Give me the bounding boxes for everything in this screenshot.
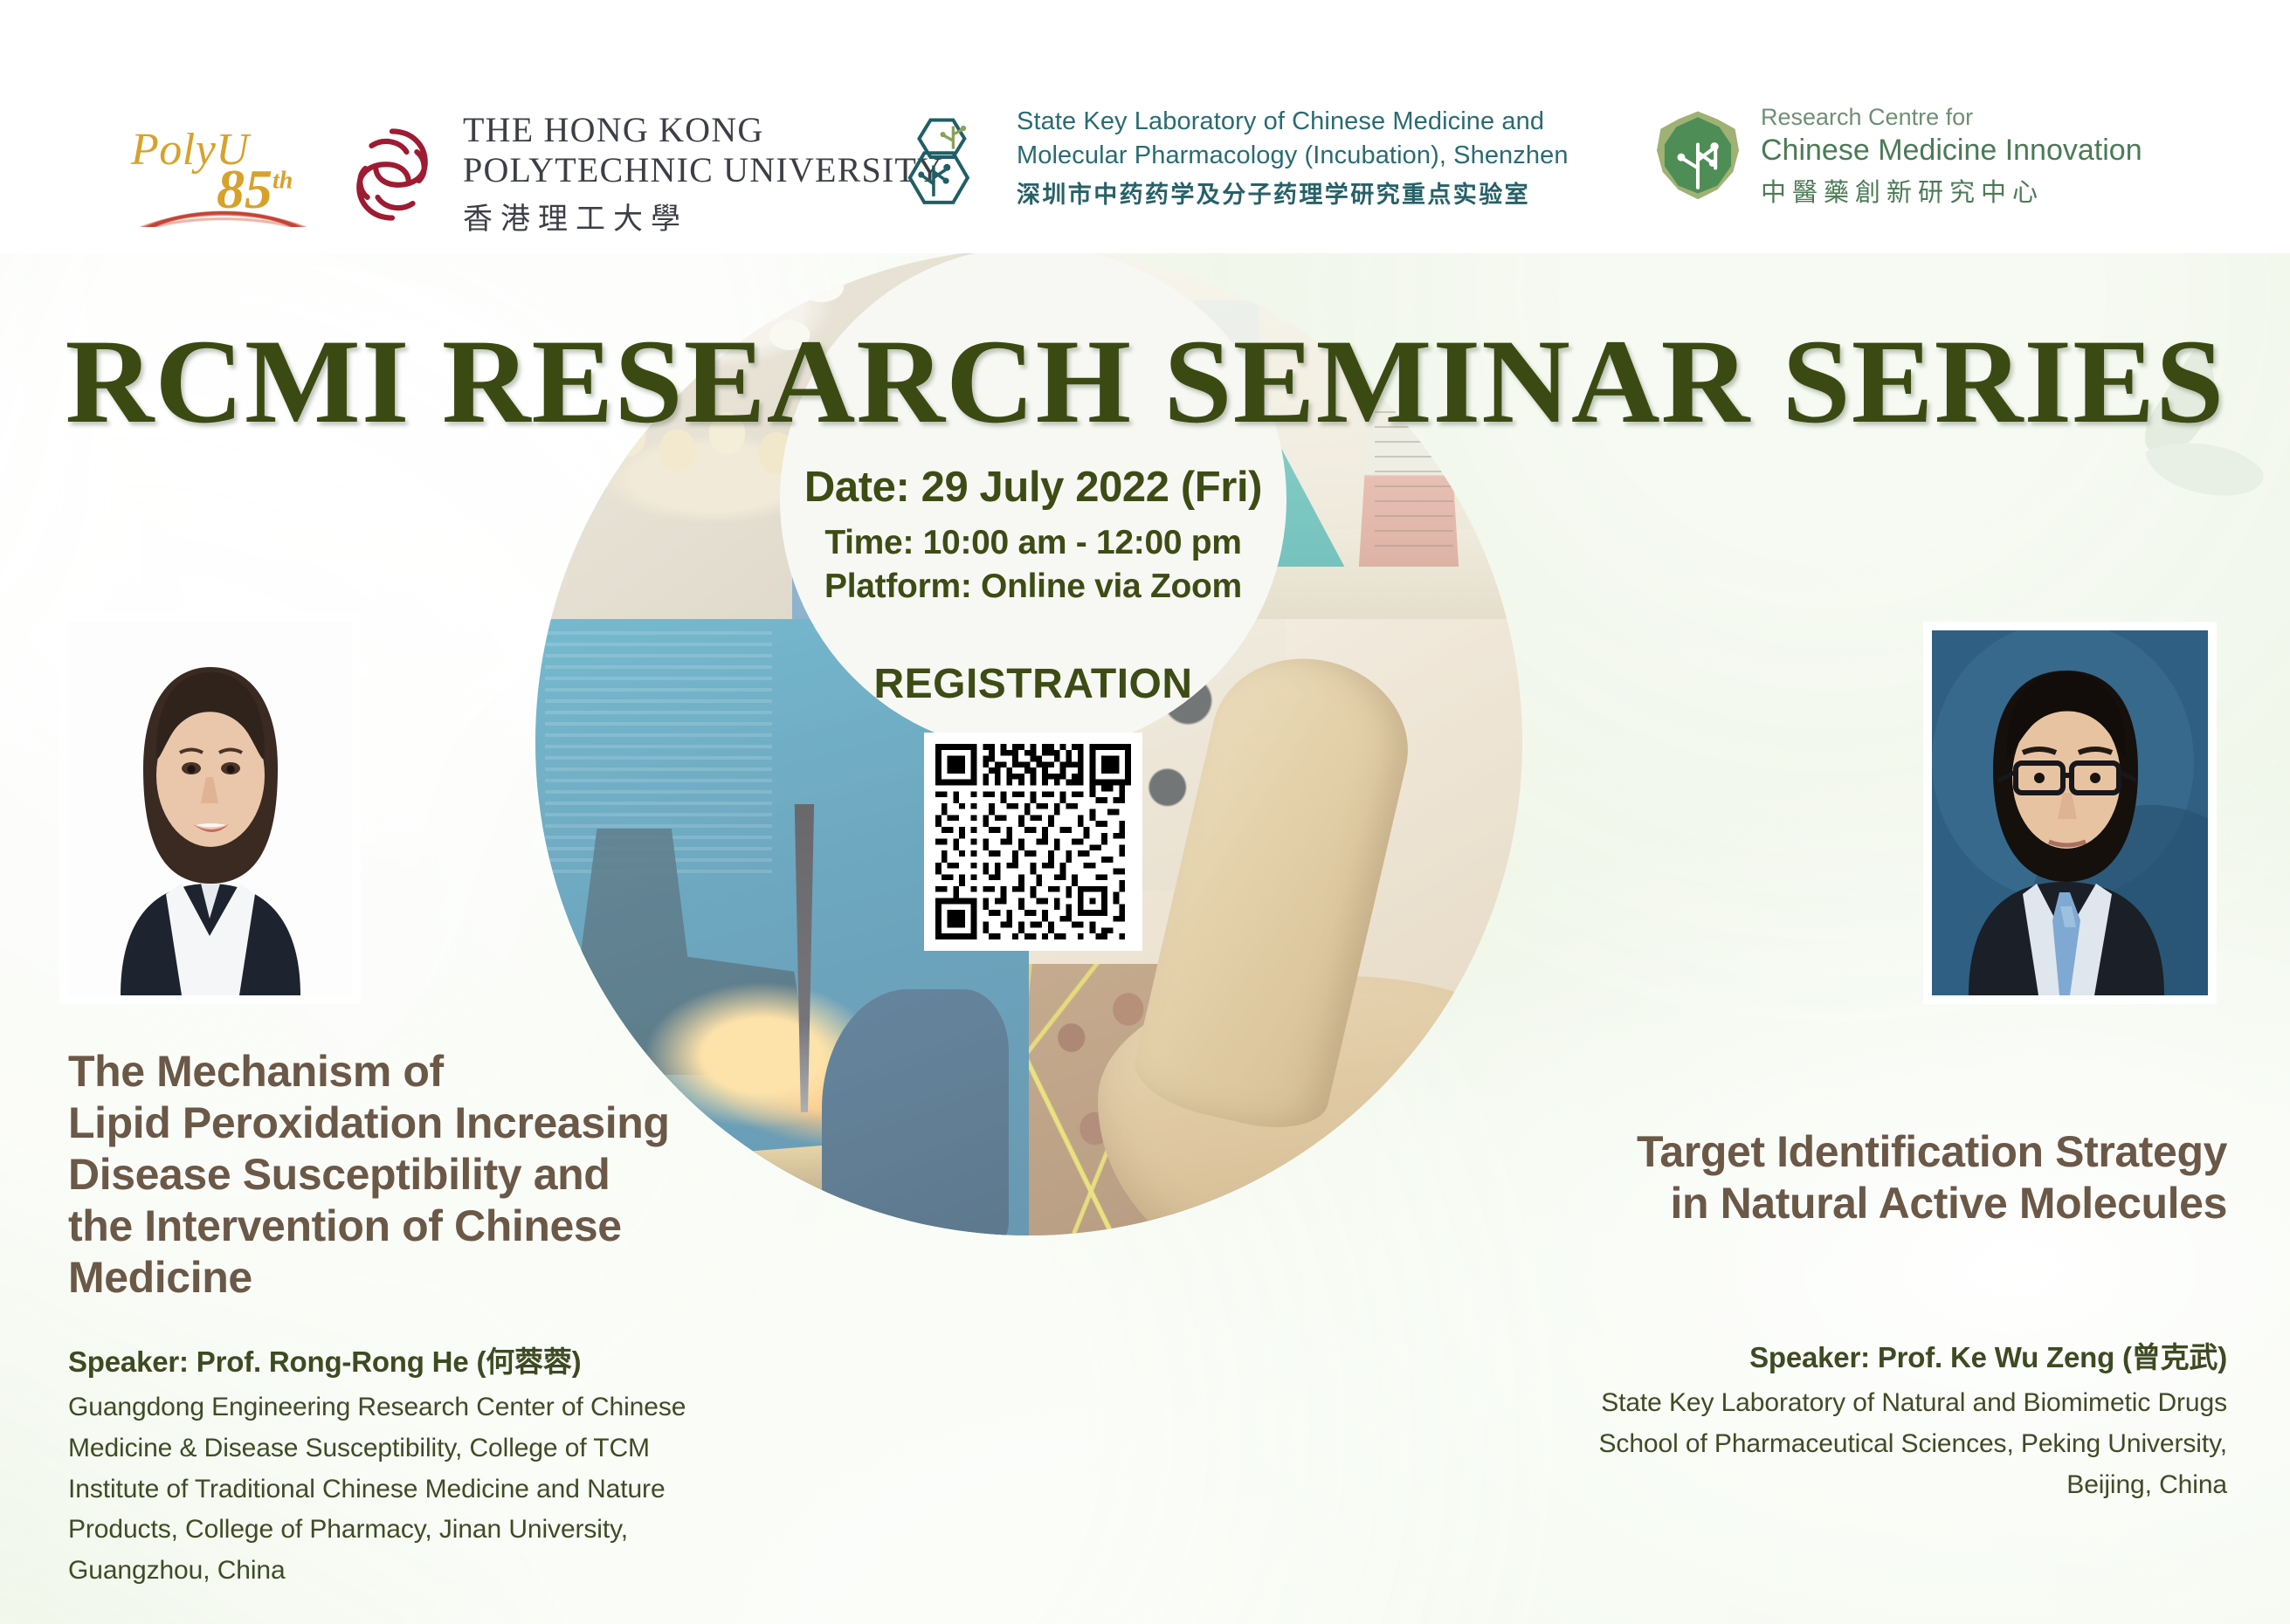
affiliation-line: Institute of Traditional Chinese Medicin… [68, 1469, 837, 1510]
event-details-block: Date: 29 July 2022 (Fri) Time: 10:00 am … [780, 463, 1286, 951]
affiliation-line: Medicine & Disease Susceptibility, Colle… [68, 1428, 837, 1469]
affiliation-line: Products, College of Pharmacy, Jinan Uni… [68, 1510, 837, 1551]
polyu-name-en-line2: POLYTECHNIC UNIVERSITY [463, 152, 943, 189]
rcmi-name-block: Research Centre for Chinese Medicine Inn… [1761, 103, 2142, 209]
affiliation-line: State Key Laboratory of Natural and Biom… [1450, 1383, 2227, 1424]
rcmi-name-en-line1: Research Centre for [1761, 103, 2142, 133]
talk-title-right: Target Identification Strategy in Natura… [1450, 1126, 2227, 1229]
talk-title-left: The Mechanism of Lipid Peroxidation Incr… [68, 1046, 837, 1304]
state-key-laboratory-logo-group: State Key Laboratory of Chinese Medicine… [900, 105, 1569, 210]
polyu-name-block: THE HONG KONG POLYTECHNIC UNIVERSITY 香港理… [463, 112, 943, 237]
skl-name-en-line1: State Key Laboratory of Chinese Medicine… [1017, 105, 1569, 138]
speaker-photo-right [1932, 630, 2208, 995]
registration-qr-code[interactable] [935, 744, 1131, 939]
polyu-knot-emblem-icon [341, 123, 444, 226]
polyu-85th-anniversary-mark: PolyU 85th [121, 122, 321, 227]
polyu-name-en-line1: THE HONG KONG [463, 112, 943, 148]
affiliation-line: School of Pharmaceutical Sciences, Pekin… [1450, 1424, 2227, 1465]
page-title: RCMI RESEARCH SEMINAR SERIES [0, 321, 2290, 442]
affiliation-left: Guangdong Engineering Research Center of… [68, 1387, 837, 1592]
registration-qr-container[interactable] [924, 733, 1142, 951]
affiliation-line: Beijing, China [1450, 1465, 2227, 1506]
logo-header-bar: PolyU 85th THE HONG KONG POLYTECHNIC UNI… [0, 0, 2290, 253]
polyu-logo-group: PolyU 85th THE HONG KONG POLYTECHNIC UNI… [121, 112, 943, 237]
skl-name-zh: 深圳市中药药学及分子药理学研究重点实验室 [1017, 175, 1569, 210]
speaker-name-left: Speaker: Prof. Rong-Rong He (何蓉蓉) [68, 1338, 837, 1380]
rcmi-name-zh: 中醫藥創新研究中心 [1761, 172, 2142, 209]
registration-heading: REGISTRATION [780, 660, 1286, 708]
state-key-lab-name-block: State Key Laboratory of Chinese Medicine… [1017, 105, 1569, 210]
skl-name-en-line2: Molecular Pharmacology (Incubation), She… [1017, 139, 1569, 172]
state-key-lab-emblem-icon [900, 105, 1003, 210]
affiliation-line: Guangdong Engineering Research Center of… [68, 1387, 837, 1428]
rcmi-logo-group: Research Centre for Chinese Medicine Inn… [1649, 103, 2142, 209]
gloved-hand [822, 989, 1010, 1236]
event-platform: Platform: Online via Zoom [780, 568, 1286, 606]
speaker-name-right: Speaker: Prof. Ke Wu Zeng (曾克武) [1450, 1334, 2227, 1376]
polyu-name-zh: 香港理工大學 [463, 195, 943, 237]
rcmi-name-en-line2: Chinese Medicine Innovation [1761, 133, 2142, 169]
avatar-rong-rong-he [68, 622, 352, 995]
talk-block-left: The Mechanism of Lipid Peroxidation Incr… [68, 1046, 837, 1592]
affiliation-line: Guangzhou, China [68, 1551, 837, 1592]
speaker-photo-left [68, 622, 352, 995]
event-time: Time: 10:00 am - 12:00 pm [780, 524, 1286, 562]
avatar-ke-wu-zeng [1932, 630, 2208, 995]
affiliation-right: State Key Laboratory of Natural and Biom… [1450, 1383, 2227, 1505]
polyu-swoosh-graphic [121, 185, 326, 227]
rcmi-emblem-icon [1649, 107, 1747, 205]
talk-block-right: Target Identification Strategy in Natura… [1450, 1126, 2227, 1505]
event-date: Date: 29 July 2022 (Fri) [780, 463, 1286, 512]
